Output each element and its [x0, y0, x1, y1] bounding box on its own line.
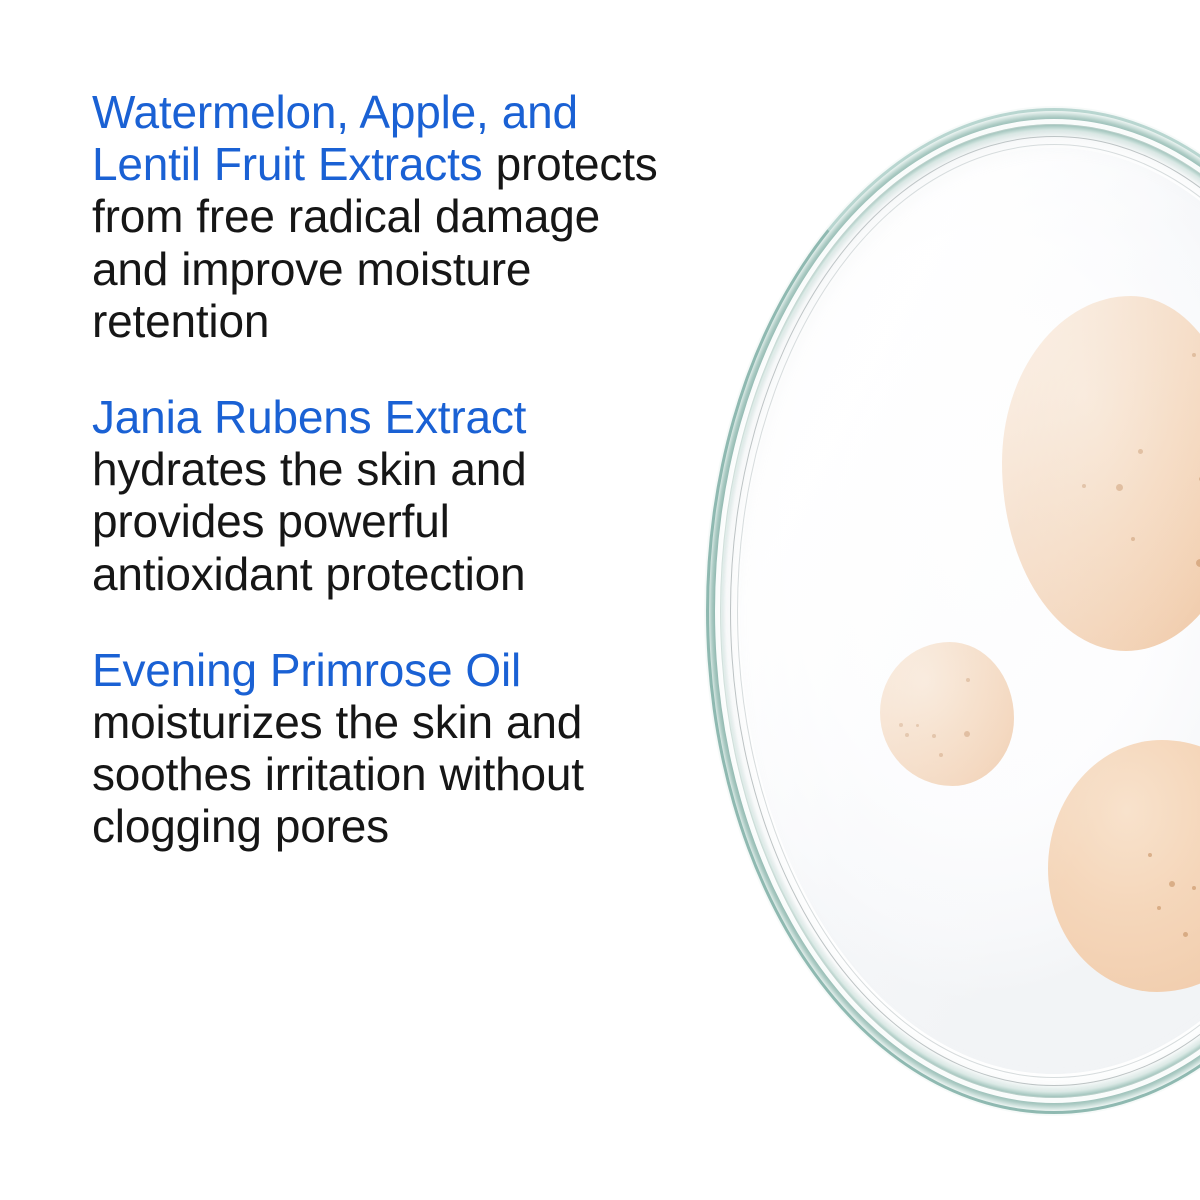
ingredient-name-jania-rubens: Jania Rubens Extract: [92, 391, 526, 443]
drop-speck: [1157, 906, 1161, 910]
ingredient-item: Watermelon, Apple, and Lentil Fruit Extr…: [92, 86, 662, 347]
ingredient-item: Evening Primrose Oil moisturizes the ski…: [92, 644, 662, 853]
drop-speck: [1148, 853, 1152, 857]
drop-speck: [1082, 484, 1086, 488]
ingredient-paragraph: Evening Primrose Oil moisturizes the ski…: [92, 644, 662, 853]
drop-speck: [905, 733, 909, 737]
ingredient-paragraph: Jania Rubens Extract hydrates the skin a…: [92, 391, 662, 600]
ingredient-item: Jania Rubens Extract hydrates the skin a…: [92, 391, 662, 600]
drop-speck: [966, 678, 970, 682]
serum-drop-large-top: [1002, 296, 1200, 651]
ingredient-name-evening-primrose-oil: Evening Primrose Oil: [92, 644, 521, 696]
drop-speck: [1192, 886, 1196, 890]
ingredient-benefits-page: Watermelon, Apple, and Lentil Fruit Extr…: [0, 0, 1200, 1200]
ingredient-benefit-evening-primrose-oil: moisturizes the skin and soothes irritat…: [92, 696, 584, 852]
drop-speck: [1196, 559, 1200, 567]
drop-speck: [1131, 537, 1135, 541]
serum-drop-small-middle: [880, 642, 1014, 786]
ingredient-list: Watermelon, Apple, and Lentil Fruit Extr…: [92, 86, 662, 853]
ingredient-benefit-jania-rubens: hydrates the skin and provides powerful …: [92, 443, 527, 599]
drop-speck: [1169, 881, 1175, 887]
drop-speck: [939, 753, 943, 757]
drop-speck: [916, 724, 919, 727]
petri-dish-photo: [704, 106, 1200, 1116]
drop-speck: [1192, 353, 1196, 357]
serum-drop-large-bottom: [1048, 740, 1200, 992]
drop-speck: [899, 723, 903, 727]
drop-speck: [964, 731, 970, 737]
drop-speck: [1138, 449, 1143, 454]
ingredient-paragraph: Watermelon, Apple, and Lentil Fruit Extr…: [92, 86, 662, 347]
drop-speck: [1183, 932, 1188, 937]
drop-speck: [932, 734, 936, 738]
drop-speck: [1116, 484, 1123, 491]
